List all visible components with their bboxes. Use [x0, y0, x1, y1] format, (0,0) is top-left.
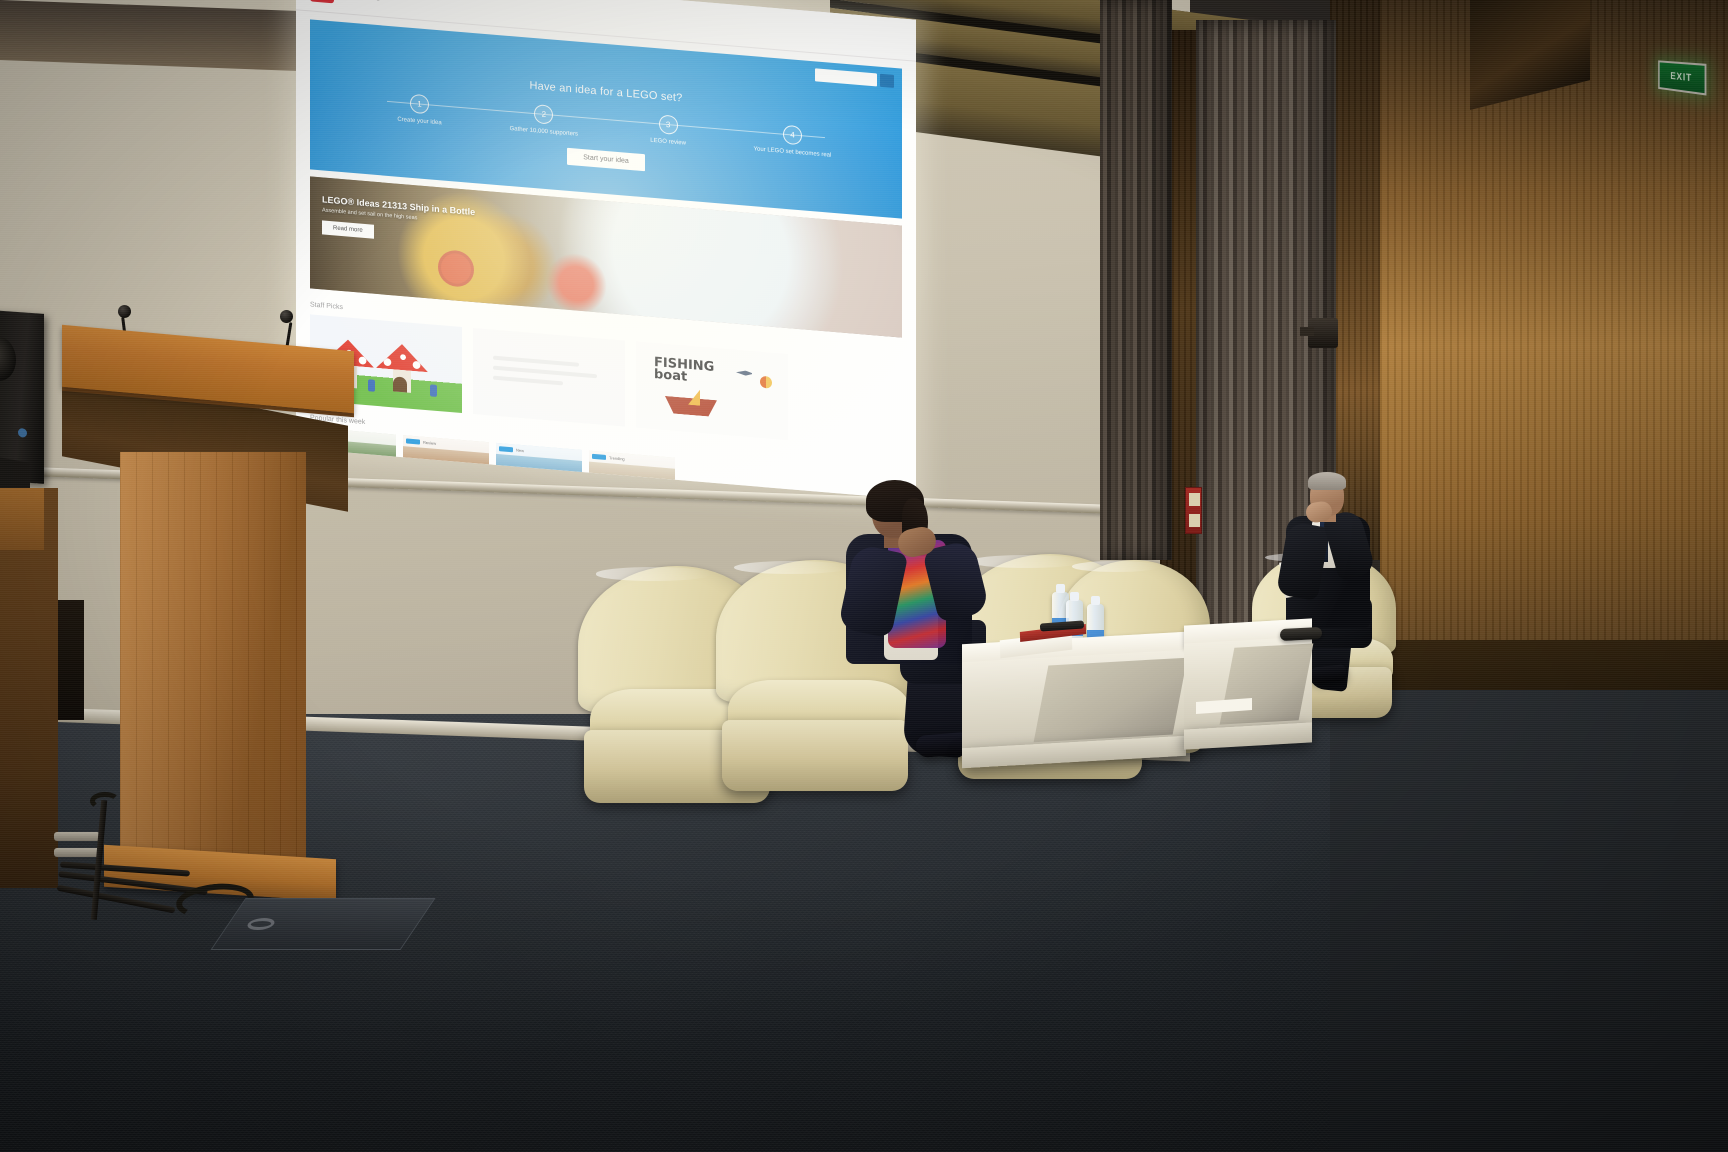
hero-step: 4 Your LEGO set becomes real	[730, 120, 854, 162]
coffee-table	[962, 638, 1186, 764]
search-area[interactable]	[815, 68, 894, 88]
step-number: 2	[534, 104, 553, 125]
step-label: Create your idea	[397, 117, 441, 128]
xlr-connector	[54, 848, 100, 857]
exit-sign-label: EXIT	[1670, 71, 1692, 84]
fire-alarm-icon	[1185, 487, 1202, 534]
carpet-floor-right	[1330, 690, 1728, 1152]
hero-step: 3 LEGO review	[606, 110, 730, 152]
auditorium-scene: EXIT LEGO IDEAS®	[0, 0, 1728, 1152]
handheld-microphone[interactable]	[1280, 627, 1323, 641]
hero-title: Have an idea for a LEGO set?	[530, 80, 683, 105]
search-input[interactable]	[815, 68, 877, 86]
step-number: 1	[410, 94, 429, 115]
lego-logo-icon: LEGO	[310, 0, 334, 3]
xlr-connector	[54, 832, 100, 841]
badge-icon	[760, 376, 772, 389]
project-card-fishing-boat[interactable]: FISHING boat	[636, 341, 788, 440]
floor-service-hatch[interactable]	[210, 898, 435, 950]
staff-picks-row: FISHING boat	[310, 314, 902, 449]
project-card-placeholder[interactable]	[473, 328, 625, 427]
step-number: 3	[659, 114, 678, 135]
wood-wall-right	[1380, 0, 1728, 720]
plane-icon	[736, 370, 752, 376]
step-label: LEGO review	[650, 138, 686, 148]
boat-shape	[660, 395, 722, 417]
search-icon[interactable]	[880, 74, 894, 88]
step-number: 4	[783, 125, 802, 146]
projected-website: LEGO IDEAS® Have an idea for a LEGO set?	[296, 0, 916, 500]
sail-shape	[688, 389, 700, 406]
shoe	[915, 732, 969, 758]
hero-cta-button[interactable]: Start your idea	[567, 148, 645, 171]
step-label: Your LEGO set becomes real	[754, 146, 832, 160]
hero-step: 2 Gather 10,000 supporters	[482, 100, 606, 142]
curtain-secondary	[1100, 0, 1172, 560]
microphone-clip-icon	[90, 792, 120, 810]
step-label: Gather 10,000 supporters	[510, 126, 578, 139]
wall-speaker-bracket	[1308, 318, 1338, 348]
hero-step: 1 Create your idea	[357, 89, 481, 131]
projection-screen: LEGO IDEAS® Have an idea for a LEGO set?	[296, 0, 916, 500]
hair	[1308, 472, 1346, 490]
site-brand-name: IDEAS®	[341, 0, 388, 3]
fishing-boat-title: FISHING boat	[654, 357, 714, 387]
